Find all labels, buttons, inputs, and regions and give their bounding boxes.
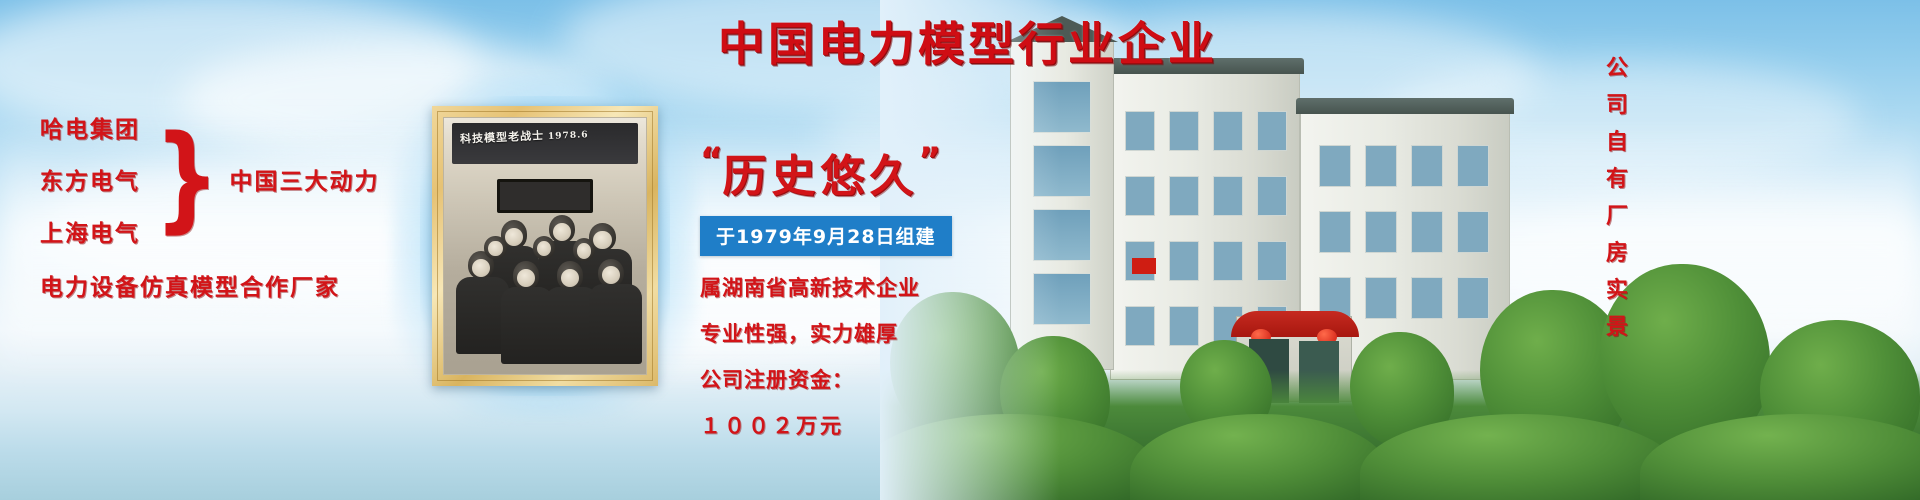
red-flag	[1132, 258, 1156, 274]
list-item: 属湖南省高新技术企业	[700, 272, 952, 302]
history-headline: “历史悠久”	[700, 140, 952, 204]
vintage-photo-frame: 科技模型老战士1978.6	[420, 96, 670, 396]
gold-frame: 科技模型老战士1978.6	[432, 106, 658, 386]
vertical-char: 房	[1606, 243, 1628, 265]
vertical-char: 实	[1606, 280, 1628, 302]
vertical-char: 自	[1606, 132, 1628, 154]
partner-company-list: 哈电集团 东方电气 上海电气	[40, 110, 140, 248]
photo-people	[444, 118, 646, 374]
founded-date-badge: 于1979年9月28日组建	[700, 216, 952, 256]
list-item: 专业性强，实力雄厚	[700, 318, 952, 348]
quote-close: ”	[918, 140, 940, 180]
list-item: 上海电气	[40, 214, 140, 248]
three-powers-label: 中国三大动力	[230, 162, 380, 196]
roof-right	[1296, 98, 1514, 114]
list-item: １００２万元	[700, 410, 952, 440]
vertical-char: 公	[1606, 58, 1628, 80]
brace-icon: }	[154, 134, 220, 220]
page-title: 中国电力模型行业企业	[0, 8, 1920, 74]
vertical-char: 景	[1606, 317, 1628, 339]
list-item: 公司注册资金：	[700, 364, 952, 394]
list-item: 东方电气	[40, 162, 140, 196]
partners-footer-text: 电力设备仿真模型合作厂家	[40, 268, 380, 302]
group-photo: 科技模型老战士1978.6	[443, 117, 647, 375]
history-copy-block: “历史悠久” 于1979年9月28日组建 属湖南省高新技术企业 专业性强，实力雄…	[700, 140, 952, 440]
history-headline-text: 历史悠久	[722, 151, 918, 202]
factory-building-photo	[880, 0, 1920, 500]
list-item: 哈电集团	[40, 110, 140, 144]
quote-open: “	[700, 140, 722, 180]
page-title-text: 中国电力模型行业企业	[718, 8, 1218, 74]
vertical-caption: 公 司 自 有 厂 房 实 景	[1606, 58, 1628, 339]
partners-block: 哈电集团 东方电气 上海电气 } 中国三大动力 电力设备仿真模型合作厂家	[40, 110, 380, 302]
vertical-char: 司	[1606, 95, 1628, 117]
promo-banner: 中国电力模型行业企业 哈电集团 东方电气 上海电气 } 中国三大动力 电力设备仿…	[0, 0, 1920, 500]
vertical-char: 厂	[1606, 206, 1628, 228]
vertical-char: 有	[1606, 169, 1628, 191]
gate-arch-sign	[1231, 311, 1359, 337]
company-facts-list: 属湖南省高新技术企业 专业性强，实力雄厚 公司注册资金： １００２万元	[700, 272, 952, 440]
